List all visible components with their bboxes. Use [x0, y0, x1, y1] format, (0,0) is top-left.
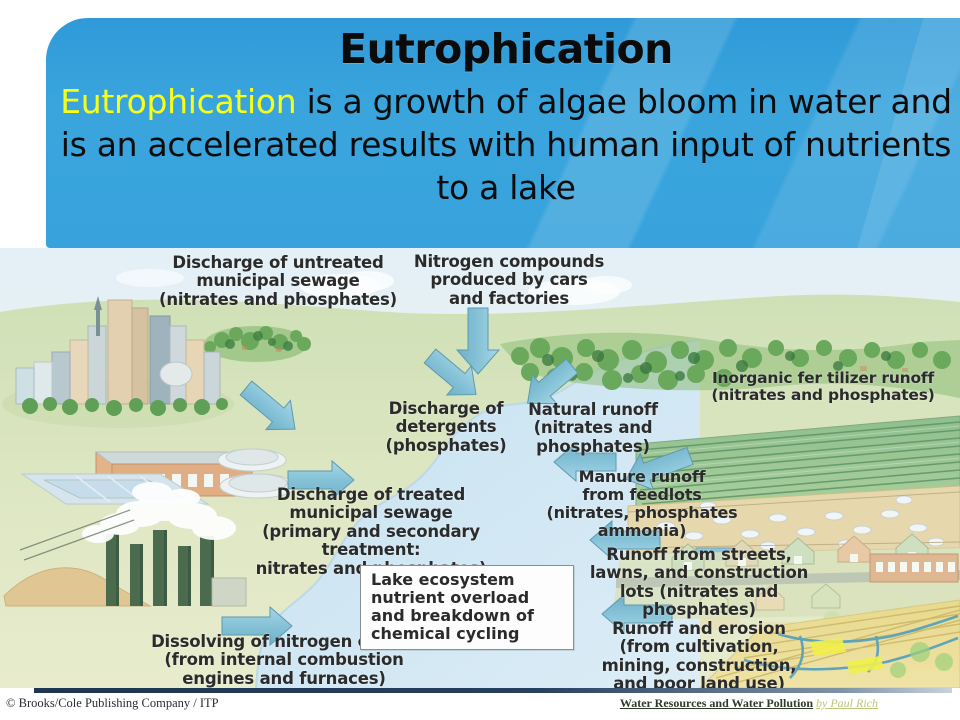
label-lake-ecosystem-box: Lake ecosystem nutrient overload and bre… [360, 565, 574, 650]
label-untreated-sewage: Discharge of untreated municipal sewage … [128, 254, 428, 309]
footer-divider [34, 688, 952, 693]
page-title: Eutrophication [46, 24, 960, 74]
copyright-notice: © Brooks/Cole Publishing Company / ITP [6, 696, 219, 711]
presentation-slide: Eutrophication Eutrophication is a growt… [0, 0, 960, 720]
footer-link[interactable]: Water Resources and Water Pollutionby Pa… [620, 696, 878, 711]
label-nitrogen-compounds: Nitrogen compounds produced by cars and … [384, 253, 634, 308]
slide-footer: © Brooks/Cole Publishing Company / ITP W… [0, 694, 960, 720]
label-street-runoff: Runoff from streets, lawns, and construc… [568, 546, 830, 620]
label-runoff-erosion: Runoff and erosion (from cultivation, mi… [568, 620, 830, 688]
title-text-wrap: Eutrophication Eutrophication is a growt… [46, 18, 960, 209]
title-banner: Eutrophication Eutrophication is a growt… [46, 18, 960, 248]
label-inorganic-fertilizer: Inorganic fer tilizer runoff (nitrates a… [686, 370, 960, 405]
label-manure-runoff: Manure runoff from feedlots (nitrates, p… [536, 468, 748, 540]
slide-body-text: Eutrophication is a growth of algae bloo… [46, 80, 960, 209]
label-natural-runoff: Natural runoff (nitrates and phosphates) [498, 401, 688, 456]
footer-link-author[interactable]: by Paul Rich [816, 696, 878, 710]
highlighted-term: Eutrophication [60, 82, 296, 121]
eutrophication-diagram: Discharge of untreated municipal sewage … [0, 248, 960, 688]
footer-link-title[interactable]: Water Resources and Water Pollution [620, 696, 813, 710]
